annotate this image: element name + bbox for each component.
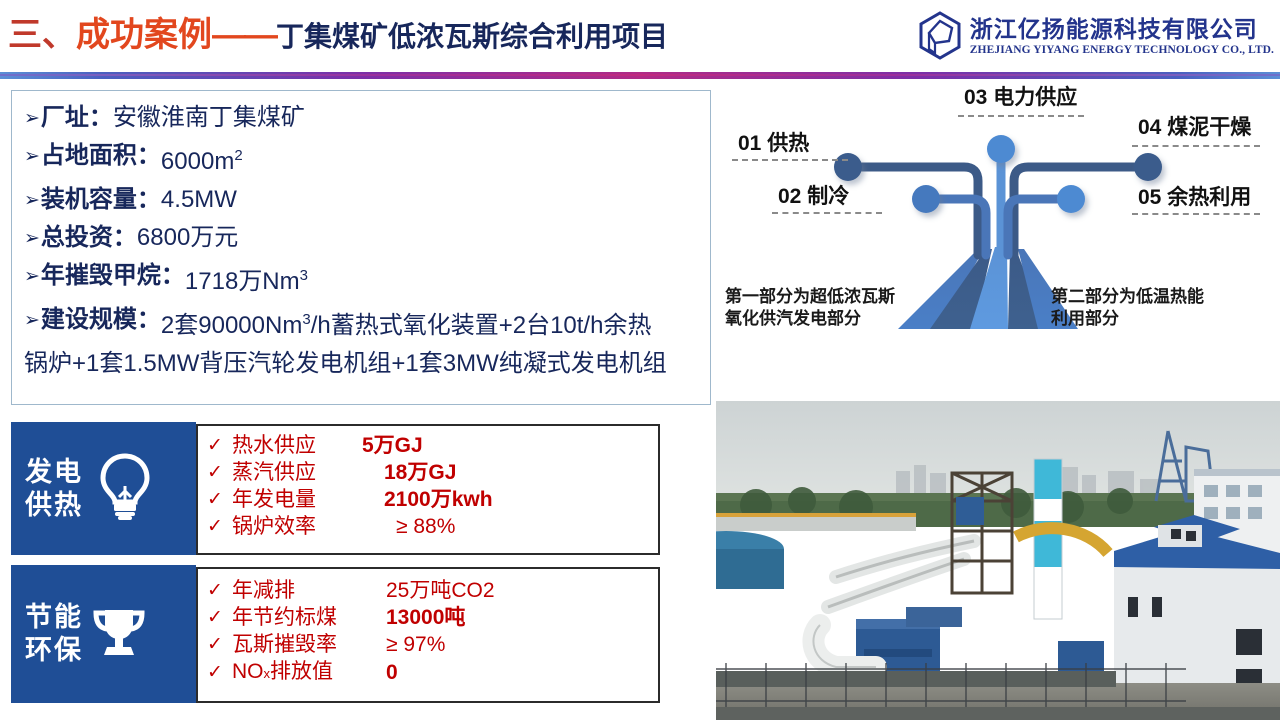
info-label: 建设规模： [41, 301, 161, 339]
check-icon: ✓ [198, 577, 232, 604]
check-icon: ✓ [198, 631, 232, 658]
fact-name: 年减排 [232, 577, 362, 604]
fact-row: ✓ 瓦斯摧毁率 ≥ 97% [198, 631, 658, 658]
diagram-underline-05 [1132, 213, 1260, 215]
badge-label-block: 发电 供热 [11, 456, 83, 522]
info-label: 总投资： [41, 219, 137, 257]
fact-name: 锅炉效率 [232, 513, 362, 540]
fact-row: ✓ 热水供应 5万GJ [198, 432, 658, 459]
fact-row: ✓ 锅炉效率 ≥ 88% [198, 513, 658, 540]
facts-energy-saving: ✓ 年减排 25万吨CO2 ✓ 年节约标煤 13000吨 ✓ 瓦斯摧毁率 ≥ 9… [196, 567, 660, 703]
caption-right-line1: 第二部分为低温热能 [1051, 286, 1204, 308]
diagram-underline-02 [772, 212, 882, 214]
fact-name: NOx排放值 [232, 658, 362, 687]
site-photo-illustration [716, 401, 1280, 720]
fact-name: 年发电量 [232, 486, 362, 513]
slide-header: 三、成功案例——丁集煤矿低浓瓦斯综合利用项目 浙江亿扬能源科技有限公司 ZHEJ… [0, 0, 1280, 72]
badge-energy-saving: 节能 环保 [11, 565, 196, 703]
badge-label-line2: 供热 [25, 489, 83, 522]
check-icon: ✓ [198, 513, 232, 540]
arrow-bullet-icon: ➢ [24, 181, 40, 219]
fact-name: 瓦斯摧毁率 [232, 631, 362, 658]
fact-name: 年节约标煤 [232, 604, 362, 631]
facts-power-heat: ✓ 热水供应 5万GJ ✓ 蒸汽供应 18万GJ ✓ 年发电量 2100万kwh… [196, 424, 660, 555]
info-item-3: ➢ 总投资： 6800万元 [24, 219, 700, 257]
arrow-bullet-icon: ➢ [24, 137, 40, 175]
arrow-bullet-icon: ➢ [24, 301, 40, 339]
diagram-underline-03 [958, 115, 1084, 117]
check-icon: ✓ [198, 604, 232, 631]
fact-value: 13000吨 [386, 604, 465, 631]
badge-power-heat: 发电 供热 [11, 422, 196, 555]
check-icon: ✓ [198, 459, 232, 486]
info-scale-line2: 锅炉+1套1.5MW背压汽轮发电机组+1套3MW纯凝式发电机组 [24, 345, 700, 383]
info-value: 安徽淮南丁集煤矿 [113, 99, 305, 137]
diagram-label-01: 01 供热 [738, 131, 809, 156]
info-item-4: ➢ 年摧毁甲烷： 1718万Nm3 [24, 257, 700, 301]
logo-company-en: ZHEJIANG YIYANG ENERGY TECHNOLOGY CO., L… [970, 43, 1274, 57]
slide-root: 三、成功案例——丁集煤矿低浓瓦斯综合利用项目 浙江亿扬能源科技有限公司 ZHEJ… [0, 0, 1280, 720]
caption-left-line1: 第一部分为超低浓瓦斯 [725, 286, 895, 308]
page-title: 三、成功案例——丁集煤矿低浓瓦斯综合利用项目 [8, 12, 668, 60]
title-number: 三、 [8, 16, 76, 54]
arrow-bullet-icon: ➢ [24, 99, 40, 137]
project-site-photo [716, 401, 1280, 720]
diagram-label-02: 02 制冷 [778, 184, 849, 209]
hexagon-cube-logo-icon [918, 11, 962, 61]
diagram-caption-left: 第一部分为超低浓瓦斯 氧化供汽发电部分 [725, 286, 895, 330]
check-icon: ✓ [198, 486, 232, 513]
fact-value: ≥ 97% [386, 631, 445, 658]
check-icon: ✓ [198, 659, 232, 686]
logo-text-block: 浙江亿扬能源科技有限公司 ZHEJIANG YIYANG ENERGY TECH… [970, 16, 1274, 57]
info-item-0: ➢ 厂址： 安徽淮南丁集煤矿 [24, 99, 700, 137]
info-value: 6800万元 [137, 219, 238, 257]
project-info-box: ➢ 厂址： 安徽淮南丁集煤矿 ➢ 占地面积： 6000m2 ➢ 装机容量： 4.… [11, 90, 711, 405]
info-label: 占地面积： [41, 137, 161, 175]
fact-name: 热水供应 [232, 432, 362, 459]
fact-row: ✓ 年发电量 2100万kwh [198, 486, 658, 513]
badge-label-line2: 环保 [25, 634, 83, 667]
company-logo: 浙江亿扬能源科技有限公司 ZHEJIANG YIYANG ENERGY TECH… [918, 8, 1274, 64]
header-gradient-divider [0, 72, 1280, 79]
info-value: 4.5MW [161, 181, 237, 219]
info-item-scale: ➢ 建设规模： 2套90000Nm3/h蓄热式氧化装置+2台10t/h余热 [24, 301, 700, 345]
fact-row: ✓ NOx排放值 0 [198, 658, 658, 687]
title-dash: —— [212, 16, 276, 54]
fact-row: ✓ 年节约标煤 13000吨 [198, 604, 658, 631]
arrow-bullet-icon: ➢ [24, 257, 40, 295]
lightbulb-icon [95, 450, 155, 527]
info-label: 厂址： [41, 99, 113, 137]
info-label: 装机容量： [41, 181, 161, 219]
title-subtitle: 丁集煤矿低浓瓦斯综合利用项目 [276, 21, 668, 52]
fact-value: 5万GJ [362, 432, 423, 459]
logo-company-cn: 浙江亿扬能源科技有限公司 [970, 16, 1274, 43]
diagram-underline-01 [732, 159, 848, 161]
fact-value: 2100万kwh [384, 486, 493, 513]
fact-value: 25万吨CO2 [386, 577, 495, 604]
badge-label-line1: 节能 [25, 601, 83, 634]
info-label: 年摧毁甲烷： [41, 257, 185, 295]
check-icon: ✓ [198, 432, 232, 459]
arrow-bullet-icon: ➢ [24, 219, 40, 257]
caption-left-line2: 氧化供汽发电部分 [725, 308, 895, 330]
fact-row: ✓ 年减排 25万吨CO2 [198, 577, 658, 604]
badge-label-line1: 发电 [25, 456, 83, 489]
caption-right-line2: 利用部分 [1051, 308, 1204, 330]
fact-value: 18万GJ [384, 459, 456, 486]
badge-label-block: 节能 环保 [11, 601, 83, 667]
info-value: 1718万Nm3 [185, 257, 308, 301]
diagram-label-05: 05 余热利用 [1138, 185, 1251, 210]
diagram-underline-04 [1132, 145, 1260, 147]
title-main: 成功案例 [76, 16, 212, 54]
diagram-caption-right: 第二部分为低温热能 利用部分 [1051, 286, 1204, 330]
info-value: 2套90000Nm3/h蓄热式氧化装置+2台10t/h余热 [161, 301, 652, 345]
diagram-label-04: 04 煤泥干燥 [1138, 115, 1251, 140]
trophy-icon [87, 600, 151, 669]
info-value: 6000m2 [161, 137, 243, 181]
diagram-label-03: 03 电力供应 [964, 85, 1077, 110]
info-item-2: ➢ 装机容量： 4.5MW [24, 181, 700, 219]
fact-name: 蒸汽供应 [232, 459, 362, 486]
energy-flow-diagram: 01 供热 02 制冷 03 电力供应 04 煤泥干燥 05 余热利用 第一部分… [716, 79, 1280, 401]
fact-value: 0 [386, 659, 398, 686]
info-item-1: ➢ 占地面积： 6000m2 [24, 137, 700, 181]
fact-row: ✓ 蒸汽供应 18万GJ [198, 459, 658, 486]
fact-value: ≥ 88% [396, 513, 455, 540]
